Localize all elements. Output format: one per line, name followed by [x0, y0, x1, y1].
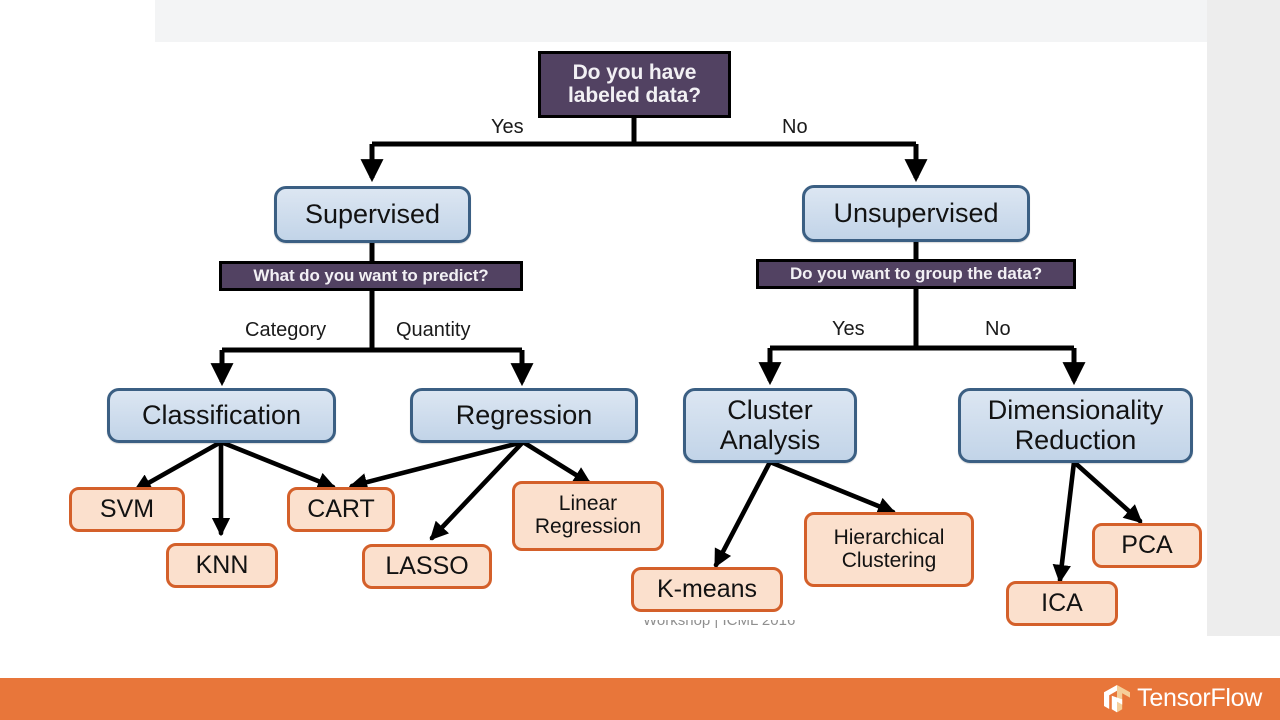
edge-label-root-yes: Yes — [491, 116, 524, 139]
node-root-question[interactable]: Do you have labeled data? — [538, 51, 731, 118]
slide-footer-text: Workshop | ICML 2016 — [643, 620, 873, 629]
node-linear-regression[interactable]: Linear Regression — [512, 481, 664, 551]
node-question-predict[interactable]: What do you want to predict? — [219, 261, 523, 291]
node-k-means[interactable]: K-means — [631, 567, 783, 612]
node-unsupervised[interactable]: Unsupervised — [802, 185, 1030, 242]
node-ica[interactable]: ICA — [1006, 581, 1118, 626]
node-supervised[interactable]: Supervised — [274, 186, 471, 243]
node-svm[interactable]: SVM — [69, 487, 185, 532]
node-knn[interactable]: KNN — [166, 543, 278, 588]
node-lasso[interactable]: LASSO — [362, 544, 492, 589]
edge-label-root-no: No — [782, 116, 808, 139]
node-cluster-analysis[interactable]: Cluster Analysis — [683, 388, 857, 463]
tensorflow-brand-bar — [0, 678, 1280, 720]
tensorflow-logo: TensorFlow — [1104, 684, 1262, 713]
node-dimensionality-reduction[interactable]: Dimensionality Reduction — [958, 388, 1193, 463]
node-hierarchical-clustering[interactable]: Hierarchical Clustering — [804, 512, 974, 587]
node-classification[interactable]: Classification — [107, 388, 336, 443]
edge-label-quantity: Quantity — [396, 319, 470, 342]
edge-label-group-no: No — [985, 318, 1011, 341]
slide-footer-clipped: Workshop | ICML 2016 — [643, 620, 873, 636]
node-question-group[interactable]: Do you want to group the data? — [756, 259, 1076, 289]
ml-decision-tree-diagram: Do you have labeled data? Supervised Uns… — [0, 0, 1280, 678]
edge-label-group-yes: Yes — [832, 318, 865, 341]
tensorflow-wordmark: TensorFlow — [1137, 684, 1262, 713]
node-regression[interactable]: Regression — [410, 388, 638, 443]
node-cart[interactable]: CART — [287, 487, 395, 532]
tensorflow-logo-icon — [1104, 685, 1130, 713]
edge-label-category: Category — [245, 319, 326, 342]
node-pca[interactable]: PCA — [1092, 523, 1202, 568]
